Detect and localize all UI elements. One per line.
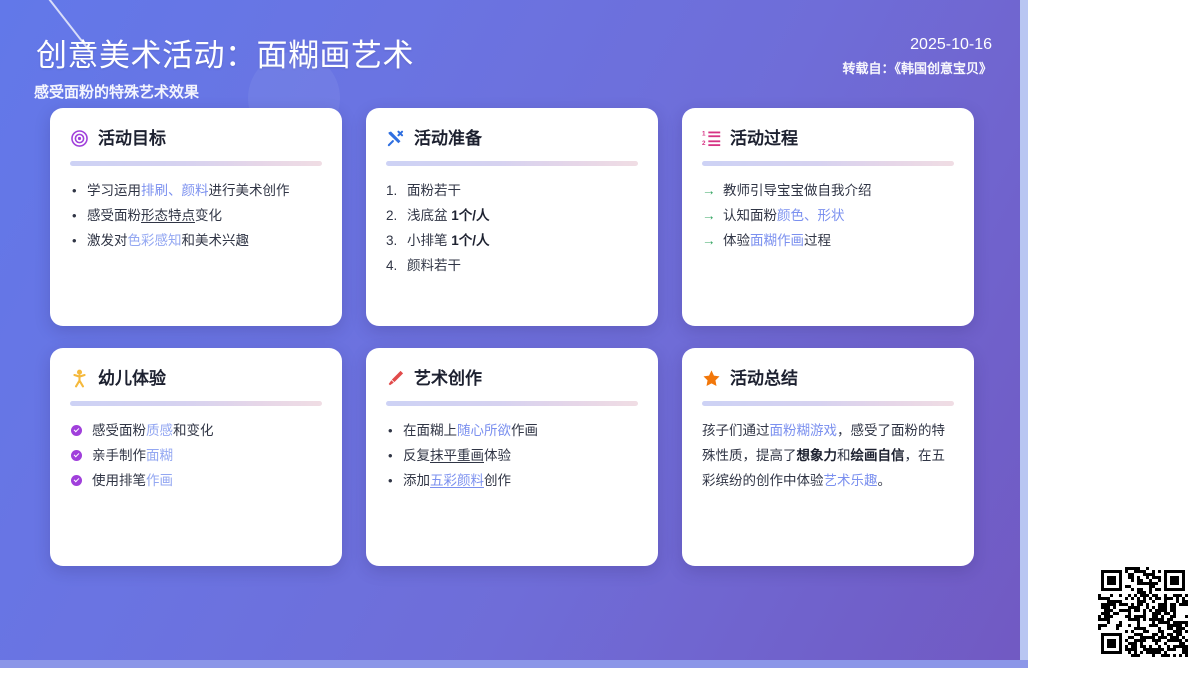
summary-paragraph: 孩子们通过面粉糊游戏，感受了面粉的特殊性质，提高了想象力和绘画自信，在五彩缤纷的… [702,418,954,493]
text-run: 亲手制作 [92,448,146,463]
list-item: 激发对色彩感知和美术兴趣 [70,228,322,253]
source-label: 转载自：《韩国创意宝贝》 [842,57,992,81]
text-run: 1个/人 [451,233,489,248]
tools-icon [386,129,405,148]
card-header: 12活动过程 [702,125,954,152]
text-run: 创作 [484,473,511,488]
text-run: 随心所欲 [457,423,511,438]
slide-header: 创意美术活动：面糊画艺术 感受面粉的特殊艺术效果 2025-10-16 转载自：… [0,0,1028,104]
list-item: 在面糊上随心所欲作画 [386,418,638,443]
card-title: 艺术创作 [414,369,482,389]
list-item: 反复抹平重画体验 [386,443,638,468]
card-2[interactable]: 活动准备面粉若干浅底盆 1个/人小排笔 1个/人颜料若干 [366,108,658,326]
card-list: 面粉若干浅底盆 1个/人小排笔 1个/人颜料若干 [386,178,638,278]
text-run: 颜料若干 [407,258,461,273]
target-icon [70,129,89,148]
page-title: 创意美术活动：面糊画艺术 [36,30,414,75]
slide-bottom-edge [0,660,1028,668]
card-title: 幼儿体验 [98,369,166,389]
list-item: 亲手制作面糊 [70,443,322,468]
card-header: 活动目标 [70,125,322,152]
text-run: 色彩感知 [128,233,182,248]
text-run: 和变化 [173,423,214,438]
card-divider [386,161,638,166]
text-run: 质感 [146,423,173,438]
card-title: 活动总结 [730,369,798,389]
text-run: 感受面粉 [87,208,141,223]
list-item: 添加五彩颜料创作 [386,468,638,493]
text-run: 反复 [403,448,430,463]
svg-text:1: 1 [702,131,706,138]
text-run: 激发对 [87,233,128,248]
text-run: 面粉糊游戏 [770,423,838,438]
card-header: 幼儿体验 [70,365,322,392]
card-list: 教师引导宝宝做自我介绍认知面粉颜色、形状体验面糊作画过程 [702,178,954,253]
text-run: 过程 [804,233,831,248]
card-divider [386,401,638,406]
text-run: 感受面粉 [92,423,146,438]
text-run: 作画 [146,473,173,488]
text-run: 和美术兴趣 [182,233,250,248]
text-run: 艺术乐趣 [824,473,878,488]
text-run: 面粉若干 [407,183,461,198]
text-run: 面糊 [146,448,173,463]
list-item: 感受面粉形态特点变化 [70,203,322,228]
text-run: 添加 [403,473,430,488]
text-run: 。 [878,473,892,488]
qr-code[interactable] [1098,567,1188,657]
text-run: 体验 [484,448,511,463]
text-run: 颜料 [182,183,209,198]
star-icon [702,369,721,388]
list-item: 感受面粉质感和变化 [70,418,322,443]
text-run: 作画 [511,423,538,438]
card-4[interactable]: 幼儿体验感受面粉质感和变化亲手制作面糊使用排笔作画 [50,348,342,566]
svg-text:2: 2 [702,140,706,147]
text-run: 使用排笔 [92,473,146,488]
card-list: 学习运用排刷、颜料进行美术创作感受面粉形态特点变化激发对色彩感知和美术兴趣 [70,178,322,253]
list-item: 浅底盆 1个/人 [386,203,638,228]
text-run: 变化 [195,208,222,223]
text-run: 和 [837,448,851,463]
text-run: 进行美术创作 [209,183,290,198]
slide-right-edge [1020,0,1028,668]
text-run: 体验 [723,233,750,248]
card-header: 艺术创作 [386,365,638,392]
card-list: 在面糊上随心所欲作画反复抹平重画体验添加五彩颜料创作 [386,418,638,493]
child-icon [70,369,89,388]
card-divider [702,161,954,166]
card-divider [702,401,954,406]
text-run: 浅底盆 [407,208,451,223]
text-run: 学习运用 [87,183,141,198]
card-3[interactable]: 12活动过程教师引导宝宝做自我介绍认知面粉颜色、形状体验面糊作画过程 [682,108,974,326]
text-run: 想象力 [797,448,838,463]
card-divider [70,401,322,406]
text-run: 五彩颜料 [430,473,484,488]
page-subtitle: 感受面粉的特殊艺术效果 [34,81,199,102]
text-run: 认知面粉 [723,208,777,223]
list-item: 教师引导宝宝做自我介绍 [702,178,954,203]
text-run: 颜色、形状 [777,208,845,223]
text-run: 形态特点 [141,208,195,223]
paintbrush-icon [386,369,405,388]
card-list: 感受面粉质感和变化亲手制作面糊使用排笔作画 [70,418,322,493]
card-title: 活动过程 [730,129,798,149]
text-run: 孩子们通过 [702,423,770,438]
slide-canvas: 创意美术活动：面糊画艺术 感受面粉的特殊艺术效果 2025-10-16 转载自：… [0,0,1028,668]
list-item: 学习运用排刷、颜料进行美术创作 [70,178,322,203]
date-label: 2025-10-16 [842,33,992,57]
text-run: 排刷、 [141,183,182,198]
card-grid: 活动目标学习运用排刷、颜料进行美术创作感受面粉形态特点变化激发对色彩感知和美术兴… [50,108,974,566]
list-item: 小排笔 1个/人 [386,228,638,253]
list-item: 颜料若干 [386,253,638,278]
card-1[interactable]: 活动目标学习运用排刷、颜料进行美术创作感受面粉形态特点变化激发对色彩感知和美术兴… [50,108,342,326]
card-6[interactable]: 活动总结孩子们通过面粉糊游戏，感受了面粉的特殊性质，提高了想象力和绘画自信，在五… [682,348,974,566]
card-header: 活动总结 [702,365,954,392]
text-run: 抹平重画 [430,448,484,463]
card-header: 活动准备 [386,125,638,152]
card-title: 活动目标 [98,129,166,149]
ordered-list-icon: 12 [702,129,721,148]
list-item: 面粉若干 [386,178,638,203]
header-meta: 2025-10-16 转载自：《韩国创意宝贝》 [842,33,992,81]
text-run: 教师引导宝宝做自我介绍 [723,183,872,198]
card-title: 活动准备 [414,129,482,149]
card-5[interactable]: 艺术创作在面糊上随心所欲作画反复抹平重画体验添加五彩颜料创作 [366,348,658,566]
list-item: 认知面粉颜色、形状 [702,203,954,228]
slide-root: 创意美术活动：面糊画艺术 感受面粉的特殊艺术效果 2025-10-16 转载自：… [0,0,1200,675]
text-run: 绘画自信 [851,448,905,463]
text-run: 面糊作画 [750,233,804,248]
list-item: 使用排笔作画 [70,468,322,493]
text-run: 1个/人 [451,208,489,223]
list-item: 体验面糊作画过程 [702,228,954,253]
card-divider [70,161,322,166]
text-run: 小排笔 [407,233,451,248]
text-run: 在面糊上 [403,423,457,438]
